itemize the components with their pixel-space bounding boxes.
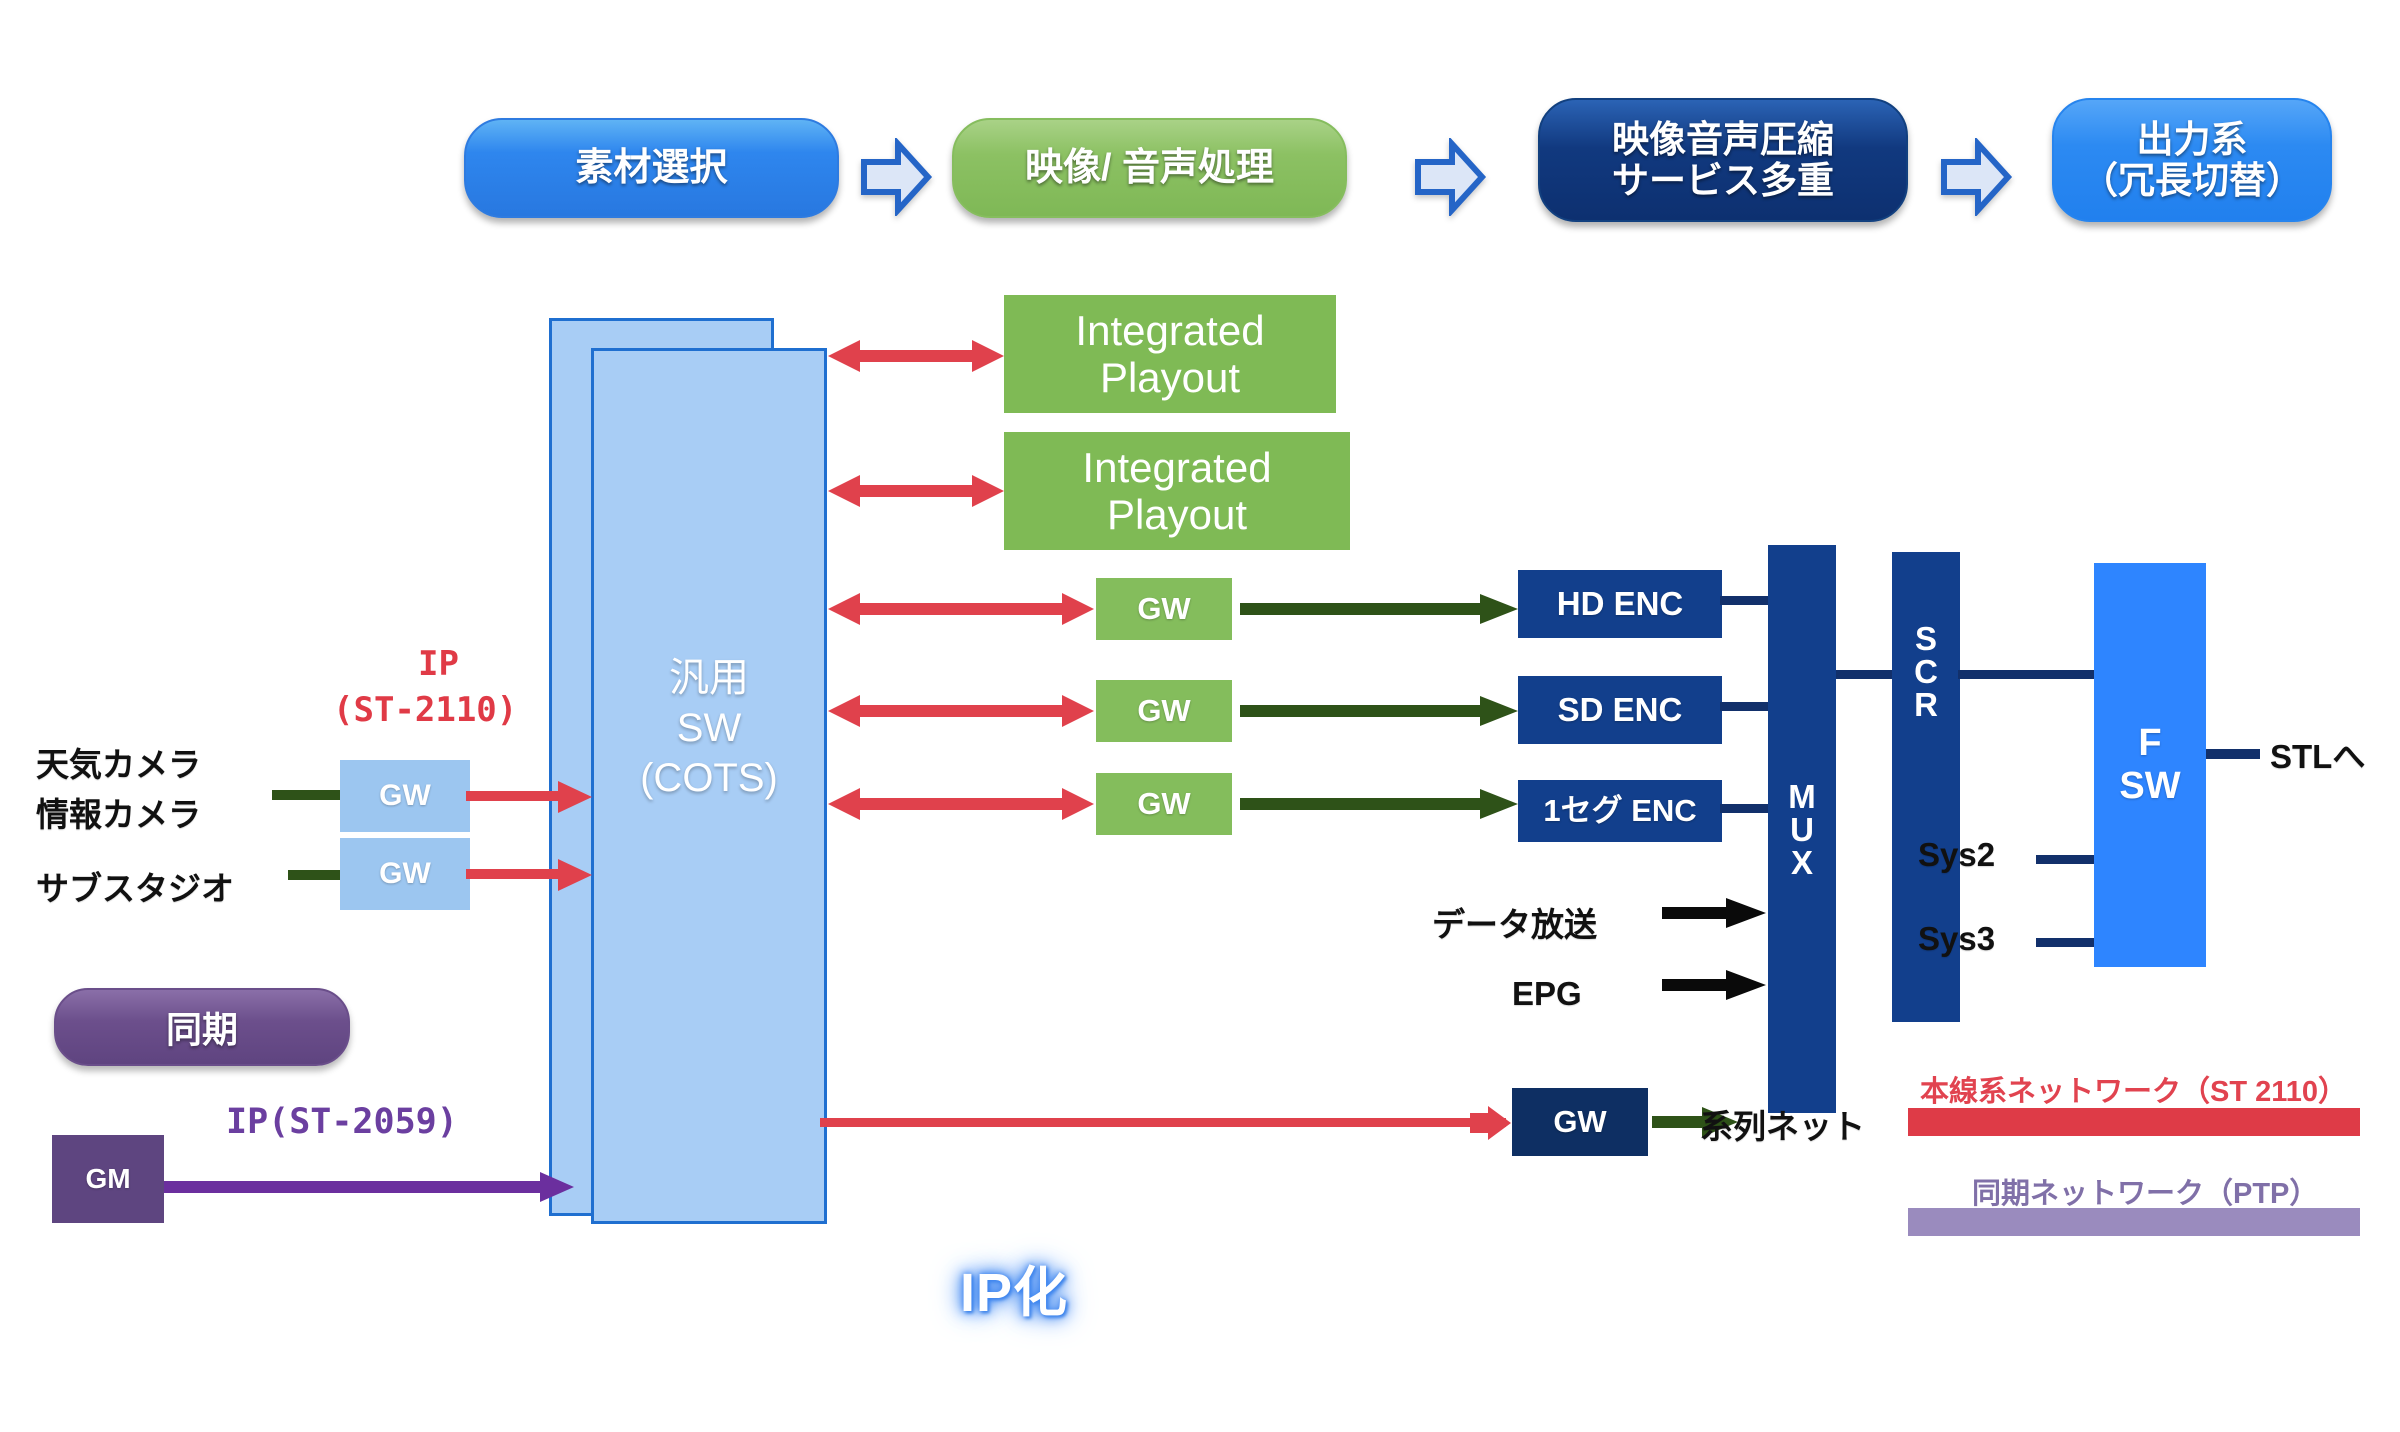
ip-standard-label-line2: (ST-2110)	[333, 690, 517, 730]
phase-banner-label-line2: （冗長切替）	[2081, 160, 2303, 201]
encoder-feed-arrow-icon-1seg	[1240, 788, 1520, 820]
diagram-canvas: 素材選択 映像/ 音声処理 映像音声圧縮 サービス多重 出力系 （冗長切替） 汎…	[0, 0, 2400, 1432]
fsw-line2: SW	[2119, 765, 2180, 808]
mux-letter: X	[1791, 846, 1813, 879]
wire-sys2-to-fsw	[2036, 855, 2094, 864]
core-switch-line3: (COTS)	[594, 753, 824, 803]
integrated-playout-box-2[interactable]: Integrated Playout	[1004, 432, 1350, 550]
phase-banner-material-selection[interactable]: 素材選択	[464, 118, 839, 218]
mux-input-label-data-broadcast: データ放送	[1432, 898, 1597, 946]
integrated-playout-box-1[interactable]: Integrated Playout	[1004, 295, 1336, 413]
gateway-label: GW	[1137, 787, 1190, 822]
mux-letter: M	[1788, 780, 1816, 813]
encoder-box-1seg[interactable]: 1セグ ENC	[1518, 780, 1722, 842]
bidir-arrow-icon-gw-1	[826, 590, 1096, 628]
wire-sw-to-affiliate-gw	[820, 1118, 1506, 1127]
source-label-info-camera: 情報カメラ	[36, 788, 201, 836]
ip-standard-label-line1: IP	[418, 644, 459, 684]
bidir-arrow-icon-gw-3	[826, 785, 1096, 823]
phase-banner-compression-multiplex[interactable]: 映像音声圧縮 サービス多重	[1538, 98, 1908, 222]
flow-arrow-icon-3	[1938, 138, 2014, 216]
ptp-standard-label: IP(ST-2059)	[226, 1102, 458, 1142]
gateway-box-hd[interactable]: GW	[1096, 578, 1232, 640]
scr-letter: R	[1914, 688, 1938, 721]
fsw-line1: F	[2138, 722, 2161, 765]
integrated-playout-line1: Integrated	[1075, 307, 1264, 354]
phase-banner-label: 素材選択	[575, 147, 727, 190]
bidir-arrow-icon-playout-1	[826, 337, 1006, 375]
legend-label-sync-network: 同期ネットワーク（PTP）	[1972, 1170, 2318, 1212]
encoder-label: HD ENC	[1557, 586, 1684, 623]
core-switch-label: 汎用 SW (COTS)	[594, 653, 824, 803]
phase-banner-label-line1: 出力系	[2137, 119, 2248, 160]
failover-switch-box[interactable]: F SW	[2094, 563, 2206, 967]
affiliate-gateway-box[interactable]: GW	[1512, 1088, 1648, 1156]
scr-letter: C	[1914, 655, 1938, 688]
ptp-link-arrow-icon	[164, 1170, 576, 1204]
phase-banner-label: 映像/ 音声処理	[1025, 147, 1274, 190]
wire-1seg-to-mux	[1720, 804, 1770, 813]
phase-banner-label-line2: サービス多重	[1612, 160, 1834, 201]
wire-sd-to-mux	[1720, 702, 1770, 711]
ip-link-arrow-icon-camera	[466, 779, 594, 815]
legend-swatch-sync-network	[1908, 1208, 2360, 1236]
integrated-playout-line2: Playout	[1107, 491, 1247, 538]
mux-letter: U	[1790, 813, 1814, 846]
bidir-arrow-icon-gw-2	[826, 692, 1096, 730]
legend-swatch-main-network	[1908, 1108, 2360, 1136]
affiliate-arrowhead-icon	[1470, 1105, 1512, 1141]
encoder-label: 1セグ ENC	[1543, 794, 1696, 829]
flow-arrow-icon-2	[1412, 138, 1488, 216]
mux-input-label-epg: EPG	[1512, 975, 1582, 1013]
wire-fsw-to-stl	[2206, 749, 2260, 759]
gateway-box-1seg[interactable]: GW	[1096, 773, 1232, 835]
bidir-arrow-icon-playout-2	[826, 472, 1006, 510]
gateway-label: GW	[1137, 592, 1190, 627]
phase-banner-label-line1: 映像音声圧縮	[1612, 119, 1834, 160]
gateway-label: GW	[379, 779, 431, 813]
sync-pill-label: 同期	[166, 1001, 238, 1053]
phase-banner-video-audio-processing[interactable]: 映像/ 音声処理	[952, 118, 1347, 218]
gateway-box-sd[interactable]: GW	[1096, 680, 1232, 742]
encoder-box-hd[interactable]: HD ENC	[1518, 570, 1722, 638]
mux-input-arrow-icon-epg	[1662, 968, 1768, 1002]
flow-arrow-icon-1	[858, 138, 934, 216]
gateway-label: GW	[379, 857, 431, 891]
integrated-playout-line1: Integrated	[1082, 444, 1271, 491]
mux-box[interactable]: M U X	[1768, 545, 1836, 1113]
encoder-feed-arrow-icon-sd	[1240, 695, 1520, 727]
encoder-feed-arrow-icon-hd	[1240, 593, 1520, 625]
ip-link-arrow-icon-substudio	[466, 857, 594, 893]
mux-input-arrow-icon-data	[1662, 896, 1768, 930]
legend-label-main-network: 本線系ネットワーク（ST 2110）	[1920, 1068, 2347, 1110]
wire-scr-to-fsw	[1958, 670, 2100, 679]
gateway-label: GW	[1137, 694, 1190, 729]
core-switch-front-sheet[interactable]: 汎用 SW (COTS)	[591, 348, 827, 1224]
wire-hd-to-mux	[1720, 596, 1770, 605]
encoder-label: SD ENC	[1558, 692, 1683, 729]
sync-pill[interactable]: 同期	[54, 988, 350, 1066]
wire-mux-to-scr	[1836, 670, 1898, 679]
ip-transformation-title: IP化	[960, 1248, 1068, 1327]
gateway-box-camera[interactable]: GW	[340, 760, 470, 832]
mux-label: M U X	[1768, 545, 1836, 1113]
gateway-box-substudio[interactable]: GW	[340, 838, 470, 910]
source-label-sub-studio: サブスタジオ	[36, 862, 234, 910]
core-switch-line1: 汎用	[594, 653, 824, 703]
core-switch-line2: SW	[594, 703, 824, 753]
wire-sys3-to-fsw	[2036, 938, 2094, 947]
phase-banner-output-redundancy[interactable]: 出力系 （冗長切替）	[2052, 98, 2332, 222]
fsw-input-label-sys2: Sys2	[1918, 836, 1995, 874]
affiliate-network-label: 系列ネット	[1700, 1100, 1865, 1148]
encoder-box-sd[interactable]: SD ENC	[1518, 676, 1722, 744]
grandmaster-clock-box[interactable]: GM	[52, 1135, 164, 1223]
fsw-input-label-sys3: Sys3	[1918, 920, 1995, 958]
gateway-label: GW	[1553, 1105, 1606, 1140]
source-label-weather-camera: 天気カメラ	[36, 738, 201, 786]
grandmaster-label: GM	[85, 1163, 130, 1194]
scr-letter: S	[1915, 622, 1937, 655]
output-label-stl: STLへ	[2270, 730, 2365, 778]
integrated-playout-line2: Playout	[1100, 354, 1240, 401]
